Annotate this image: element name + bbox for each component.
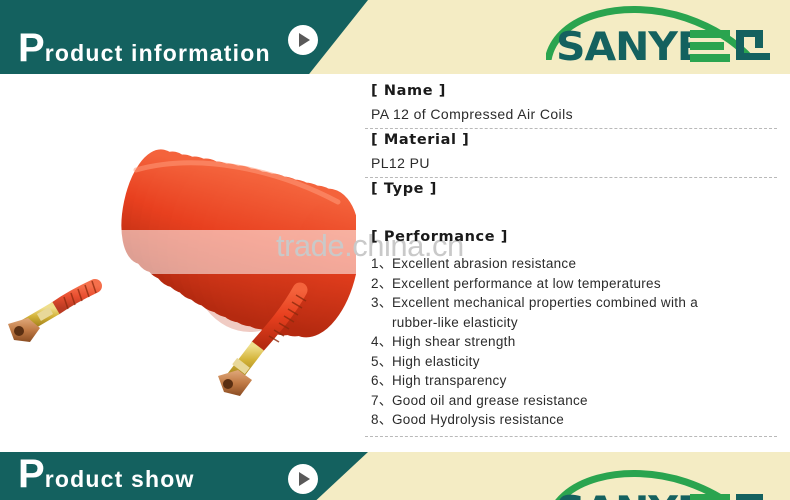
list-item-text: Good Hydrolysis resistance [392,410,777,430]
list-item-number: 6、 [371,371,392,391]
spec-row-material: [ Material ] PL12 PU [365,129,777,178]
page-title-rest: roduct information [45,40,271,67]
brand-logo[interactable]: SANYE [538,466,788,500]
list-item-text: rubber-like elasticity [392,313,518,333]
spec-label-material: [ Material ] [365,129,777,151]
divider [365,436,777,437]
footer-banner: P roduct show SANYE [0,452,790,500]
list-item: 6、 High transparency [371,371,777,391]
spec-label-name: [ Name ] [365,80,777,102]
list-item-text: Excellent abrasion resistance [392,254,777,274]
list-item-text: Excellent performance at low temperature… [392,274,777,294]
list-item-text: Excellent mechanical properties combined… [392,293,777,313]
page-title: P roduct information [18,28,271,68]
list-item-text: High shear strength [392,332,777,352]
list-item: 8、 Good Hydrolysis resistance [371,410,777,430]
footer-title-rest: roduct show [45,466,195,493]
footer-title-capital: P [18,454,44,494]
product-information-page: P roduct information SANYE [0,0,790,500]
list-item-number: 4、 [371,332,392,352]
list-item: 4、 High shear strength [371,332,777,352]
list-item-text: High elasticity [392,352,777,372]
green-bars-icon [690,494,736,500]
specs-panel: [ Name ] PA 12 of Compressed Air Coils [… [365,80,777,446]
list-item: 1、 Excellent abrasion resistance [371,254,777,274]
logo-mark-icon [734,26,774,66]
list-item-number: 7、 [371,391,392,411]
list-item-number: 2、 [371,274,392,294]
product-image [0,74,356,452]
spec-row-name: [ Name ] PA 12 of Compressed Air Coils [365,80,777,129]
header-banner: P roduct information SANYE [0,0,790,74]
list-item-number: 3、 [371,293,392,313]
list-item: 7、 Good oil and grease resistance [371,391,777,411]
spec-row-performance: [ Performance ] 1、 Excellent abrasion re… [365,226,777,437]
list-item: 5、 High elasticity [371,352,777,372]
coiled-air-hose-image [0,74,356,452]
spec-label-performance: [ Performance ] [365,226,777,248]
spec-value-name: PA 12 of Compressed Air Coils [365,102,777,128]
list-item-number: 1、 [371,254,392,274]
play-triangle-icon [299,472,310,486]
play-icon[interactable] [288,25,318,55]
logo-mark-icon [734,490,774,500]
play-icon[interactable] [288,464,318,494]
spec-value-type [365,200,777,226]
list-item-continuation: rubber-like elasticity [371,313,777,333]
list-item: 2、 Excellent performance at low temperat… [371,274,777,294]
list-item: 3、 Excellent mechanical properties combi… [371,293,777,313]
list-item-text: Good oil and grease resistance [392,391,777,411]
brand-logo-text: SANYE [556,492,704,500]
green-bars-icon [690,30,736,64]
spec-label-type: [ Type ] [365,178,777,200]
brand-logo-text: SANYE [556,28,704,67]
play-triangle-icon [299,33,310,47]
performance-list: 1、 Excellent abrasion resistance 2、 Exce… [365,248,777,430]
spec-value-material: PL12 PU [365,151,777,177]
page-title-capital: P [18,28,44,68]
spec-row-type: [ Type ] [365,178,777,226]
list-item-number: 8、 [371,410,392,430]
list-item-number: 5、 [371,352,392,372]
footer-title: P roduct show [18,454,195,494]
brand-logo[interactable]: SANYE [538,2,788,72]
list-item-text: High transparency [392,371,777,391]
